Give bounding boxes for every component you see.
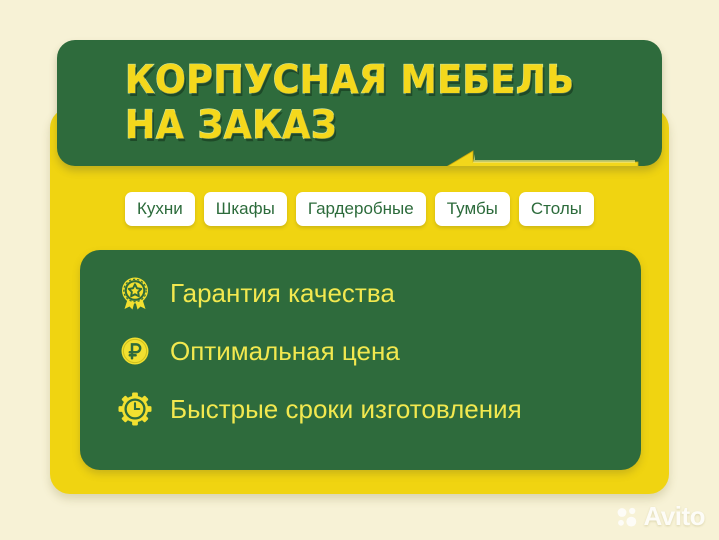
arrow-left-icon [437, 148, 642, 166]
feature-row-price: Оптимальная цена [118, 330, 625, 372]
feature-panel: Гарантия качества Оптимальная цена [80, 250, 641, 470]
feature-label-speed: Быстрые сроки изготовления [170, 394, 522, 424]
advertisement-banner: КОРПУСНАЯ МЕБЕЛЬ НА ЗАКАЗ Кухни Шкафы Га… [0, 0, 719, 540]
feature-list: Гарантия качества Оптимальная цена [118, 272, 625, 430]
headline-line-2: НА ЗАКАЗ [125, 103, 337, 148]
tag-pill-shkafy[interactable]: Шкафы [204, 192, 287, 226]
feature-label-quality: Гарантия качества [170, 278, 395, 308]
avito-dots-icon [616, 506, 638, 528]
tag-pill-tumby[interactable]: Тумбы [435, 192, 510, 226]
feature-row-quality: Гарантия качества [118, 272, 625, 314]
header-panel: КОРПУСНАЯ МЕБЕЛЬ НА ЗАКАЗ [57, 40, 662, 166]
feature-label-price: Оптимальная цена [170, 336, 400, 366]
headline: КОРПУСНАЯ МЕБЕЛЬ НА ЗАКАЗ [125, 58, 645, 148]
tag-pill-stoly[interactable]: Столы [519, 192, 594, 226]
avito-watermark: Avito [616, 501, 705, 532]
ruble-coin-icon [118, 334, 152, 368]
gear-clock-icon [118, 392, 152, 426]
tag-pill-garderobnye[interactable]: Гардеробные [296, 192, 426, 226]
feature-row-speed: Быстрые сроки изготовления [118, 388, 625, 430]
avito-wordmark: Avito [643, 501, 705, 532]
award-rosette-icon [118, 276, 152, 310]
tag-pill-kuhni[interactable]: Кухни [125, 192, 195, 226]
headline-line-1: КОРПУСНАЯ МЕБЕЛЬ [125, 58, 609, 103]
category-tag-row: Кухни Шкафы Гардеробные Тумбы Столы [50, 192, 669, 226]
